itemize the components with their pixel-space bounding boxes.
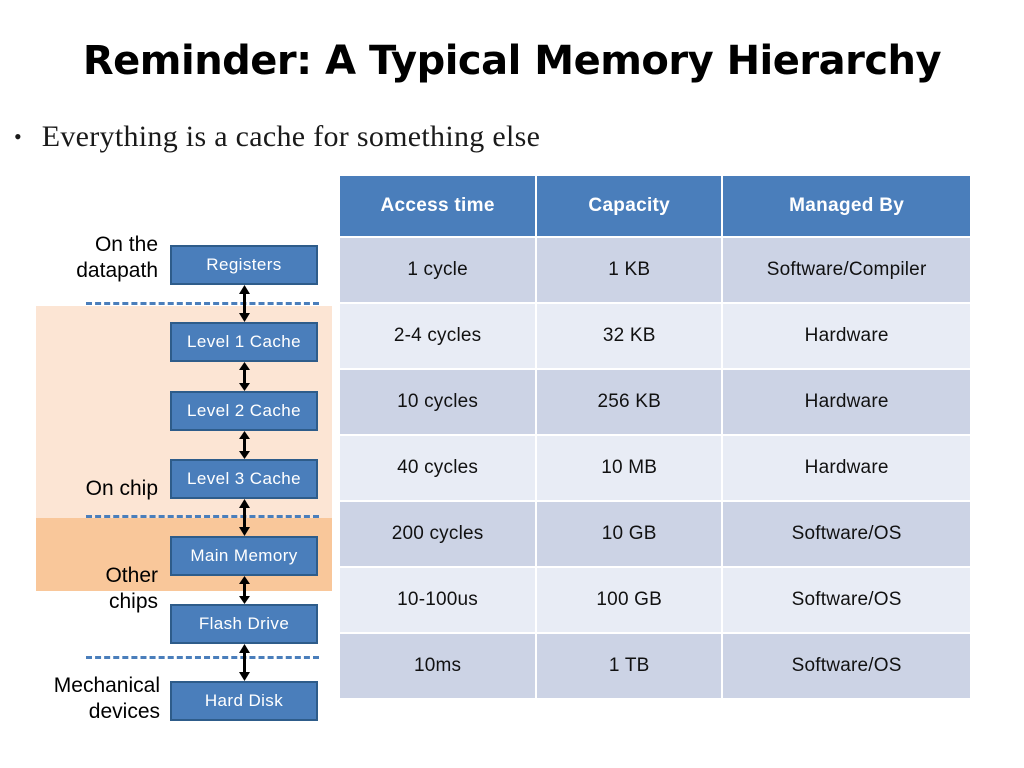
double-headed-arrow-icon [238,576,251,604]
cell-capacity: 1 KB [537,238,721,302]
side-label-on-chip: On chip [28,476,158,502]
table-row: 40 cycles 10 MB Hardware [340,436,970,500]
cell-managed-by: Software/Compiler [723,238,970,302]
double-headed-arrow-icon [238,644,251,681]
side-label-line: datapath [28,258,158,284]
hierarchy-box-label: Level 2 Cache [187,401,301,421]
cell-access-time: 2-4 cycles [340,304,535,368]
hierarchy-box-label: Level 1 Cache [187,332,301,352]
page-title: Reminder: A Typical Memory Hierarchy [0,38,1024,84]
table-row: 2-4 cycles 32 KB Hardware [340,304,970,368]
cell-access-time: 10-100us [340,568,535,632]
double-headed-arrow-icon [238,362,251,391]
double-headed-arrow-icon [238,499,251,536]
side-label-line: On chip [28,476,158,502]
hierarchy-box-main-memory[interactable]: Main Memory [170,536,318,576]
hierarchy-box-label: Hard Disk [205,691,283,711]
side-label-line: Other [28,563,158,589]
hierarchy-box-label: Main Memory [190,546,297,566]
cell-managed-by: Hardware [723,370,970,434]
cell-capacity: 1 TB [537,634,721,698]
side-label-line: chips [28,589,158,615]
table-row: 10 cycles 256 KB Hardware [340,370,970,434]
hierarchy-box-label: Registers [206,255,281,275]
hierarchy-box-level-2-cache[interactable]: Level 2 Cache [170,391,318,431]
cell-capacity: 256 KB [537,370,721,434]
table-header-row: Access time Capacity Managed By [340,176,970,236]
hierarchy-box-level-3-cache[interactable]: Level 3 Cache [170,459,318,499]
cell-access-time: 1 cycle [340,238,535,302]
side-label-line: On the [28,232,158,258]
double-headed-arrow-icon [238,431,251,459]
cell-managed-by: Software/OS [723,634,970,698]
side-label-line: devices [10,699,160,725]
bullet-text: Everything is a cache for something else [42,118,541,156]
cell-capacity: 32 KB [537,304,721,368]
dashed-divider-datapath-onchip [86,302,319,305]
column-header-managed-by: Managed By [723,176,970,236]
hierarchy-box-level-1-cache[interactable]: Level 1 Cache [170,322,318,362]
dashed-divider-otherchips-mechanical [86,656,319,659]
cell-managed-by: Software/OS [723,568,970,632]
cell-capacity: 100 GB [537,568,721,632]
cell-access-time: 10ms [340,634,535,698]
hierarchy-box-label: Flash Drive [199,614,289,634]
memory-hierarchy-table: Access time Capacity Managed By 1 cycle … [338,174,972,700]
side-label-line: Mechanical [10,673,160,699]
cell-managed-by: Hardware [723,436,970,500]
hierarchy-box-registers[interactable]: Registers [170,245,318,285]
side-label-mechanical-devices: Mechanical devices [10,673,160,725]
table-row: 200 cycles 10 GB Software/OS [340,502,970,566]
cell-capacity: 10 MB [537,436,721,500]
table-row: 1 cycle 1 KB Software/Compiler [340,238,970,302]
table-row: 10ms 1 TB Software/OS [340,634,970,698]
hierarchy-box-hard-disk[interactable]: Hard Disk [170,681,318,721]
table-row: 10-100us 100 GB Software/OS [340,568,970,632]
bullet-item: • Everything is a cache for something el… [14,118,540,156]
cell-managed-by: Software/OS [723,502,970,566]
column-header-access-time: Access time [340,176,535,236]
cell-managed-by: Hardware [723,304,970,368]
bullet-marker-icon: • [14,118,22,156]
cell-capacity: 10 GB [537,502,721,566]
cell-access-time: 200 cycles [340,502,535,566]
column-header-capacity: Capacity [537,176,721,236]
hierarchy-box-label: Level 3 Cache [187,469,301,489]
hierarchy-box-flash-drive[interactable]: Flash Drive [170,604,318,644]
cell-access-time: 10 cycles [340,370,535,434]
double-headed-arrow-icon [238,285,251,322]
cell-access-time: 40 cycles [340,436,535,500]
dashed-divider-onchip-otherchips [86,515,319,518]
side-label-other-chips: Other chips [28,563,158,615]
side-label-on-the-datapath: On the datapath [28,232,158,284]
